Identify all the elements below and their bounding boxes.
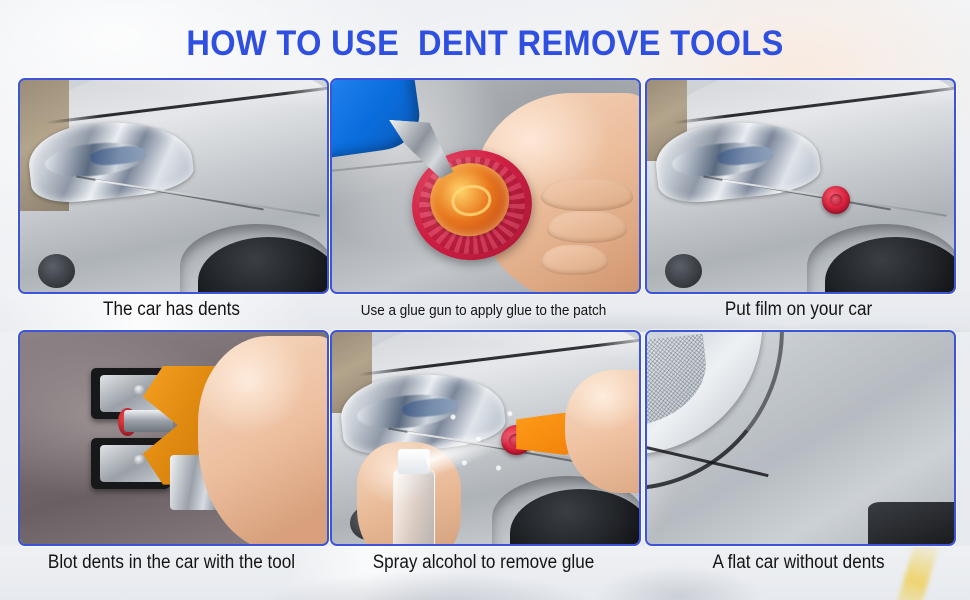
attached-puller-tab <box>822 186 850 214</box>
step-5-photo <box>332 332 639 544</box>
step-4-photo <box>20 332 327 544</box>
step-1-caption: The car has dents <box>33 299 309 321</box>
spray-bottle <box>393 470 435 544</box>
step-6-photo <box>647 332 954 544</box>
step-4-image-panel <box>18 330 329 546</box>
step-3-caption: Put film on your car <box>660 299 936 321</box>
step-5-image-panel <box>330 330 641 546</box>
tire <box>868 502 954 544</box>
step-2-photo <box>332 80 639 292</box>
step-1-image-panel <box>18 78 329 294</box>
step-2-image-panel <box>330 78 641 294</box>
finger <box>541 245 609 275</box>
step-6-caption: A flat car without dents <box>660 552 936 574</box>
page-title: HOW TO USE DENT REMOVE TOOLS <box>34 24 936 64</box>
infographic-page: HOW TO USE DENT REMOVE TOOLS <box>0 0 970 600</box>
step-3-image-panel <box>645 78 956 294</box>
step-6-image-panel <box>645 330 956 546</box>
step-1-photo <box>20 80 327 292</box>
step-2-caption: Use a glue gun to apply glue to the patc… <box>345 302 621 319</box>
hand-operating-tool <box>198 336 327 544</box>
fog-lamp <box>38 254 75 288</box>
step-4-caption: Blot dents in the car with the tool <box>33 552 309 574</box>
step-3-photo <box>647 80 954 292</box>
finger <box>547 211 627 243</box>
step-5-caption: Spray alcohol to remove glue <box>345 552 621 574</box>
finger <box>541 178 633 212</box>
fog-lamp <box>665 254 702 288</box>
